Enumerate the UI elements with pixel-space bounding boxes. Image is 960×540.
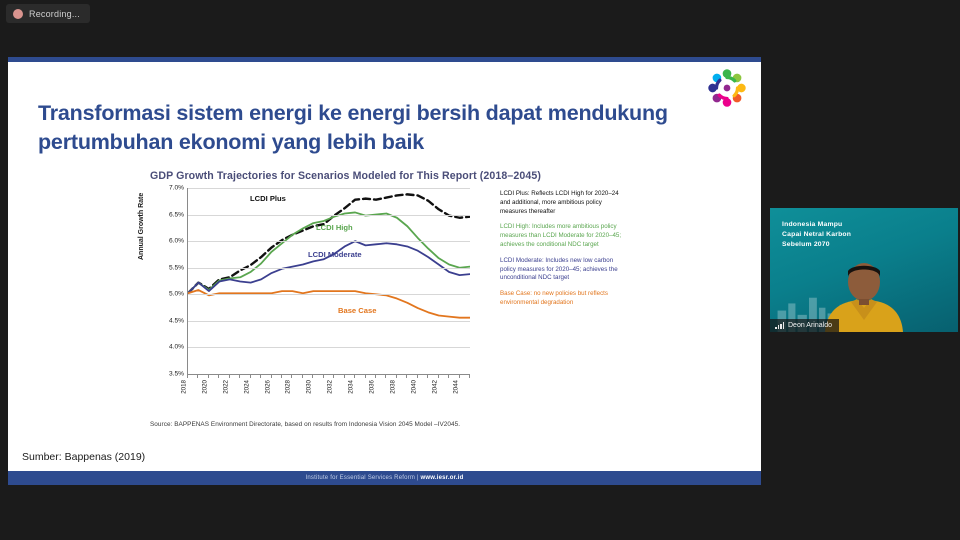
x-tick-mark [469,374,470,378]
plot-area: Annual Growth Rate 7.0%6.5%6.0%5.5%5.0%4… [140,188,630,418]
grid-line [188,188,470,189]
y-tick-label: 7.0% [169,185,184,192]
series-label-lcdi-high: LCDI High [316,223,353,232]
x-tick-mark [396,374,397,378]
x-tick-mark [323,374,324,378]
x-tick-label: 2030 [306,380,313,394]
record-dot-icon [13,9,23,19]
grid-line [188,347,470,348]
annotation-lcdi-plus: LCDI Plus: Reflects LCDI High for 2020–2… [500,190,628,216]
x-axis-ticks: 2018202020222024202620282030203220342036… [187,374,469,418]
x-tick-mark [427,374,428,378]
iesr-swirl-logo [699,64,755,112]
x-tick-mark [197,374,198,378]
x-tick-mark [417,374,418,378]
chart-figure: GDP Growth Trajectories for Scenarios Mo… [140,170,630,435]
y-axis-label: Annual Growth Rate [138,193,145,260]
y-tick-label: 6.5% [169,211,184,218]
x-tick-label: 2040 [410,380,417,394]
x-tick-mark [208,374,209,378]
x-tick-mark [406,374,407,378]
annotation-lcdi-high: LCDI High: Includes more ambitious polic… [500,223,628,249]
x-tick-label: 2036 [369,380,376,394]
x-tick-mark [448,374,449,378]
x-tick-label: 2018 [181,380,188,394]
series-label-lcdi-plus: LCDI Plus [250,194,286,203]
participant-name-bar: Deon Arinaldo [770,319,839,332]
grid-line [188,321,470,322]
x-tick-mark [260,374,261,378]
x-tick-mark [385,374,386,378]
x-tick-label: 2042 [431,380,438,394]
grid-line [188,215,470,216]
x-tick-label: 2044 [452,380,459,394]
x-tick-mark [291,374,292,378]
series-label-lcdi-moderate: LCDI Moderate [308,250,362,259]
x-tick-mark [333,374,334,378]
x-tick-label: 2038 [389,380,396,394]
x-tick-label: 2024 [243,380,250,394]
grid-line [188,268,470,269]
y-tick-label: 4.5% [169,317,184,324]
y-axis-ticks: 7.0%6.5%6.0%5.5%5.0%4.5%4.0%3.5% [152,188,186,374]
x-tick-mark [250,374,251,378]
x-tick-mark [229,374,230,378]
grid-line [188,294,470,295]
y-tick-label: 5.0% [169,291,184,298]
x-tick-label: 2034 [348,380,355,394]
footer-url: www.iesr.or.id [421,475,464,481]
slide-bottom-bar: Institute for Essential Services Reform … [8,471,761,485]
slide-footer-text: Institute for Essential Services Reform … [306,475,464,481]
slide-title: Transformasi sistem energi ke energi ber… [38,99,688,157]
x-tick-mark [187,374,188,378]
y-tick-label: 3.5% [169,371,184,378]
x-tick-label: 2026 [264,380,271,394]
x-tick-label: 2020 [201,380,208,394]
x-tick-mark [239,374,240,378]
signal-strength-icon [775,322,784,329]
video-tile-participant[interactable]: Indonesia Mampu Capai Netral Karbon Sebe… [770,208,958,332]
footer-org: Institute for Essential Services Reform … [306,475,421,481]
series-label-base-case: Base Case [338,306,376,315]
recording-label: Recording... [29,9,80,19]
annotation-base-case: Base Case: no new policies but reflects … [500,290,628,308]
x-tick-mark [375,374,376,378]
participant-name: Deon Arinaldo [788,322,832,329]
video-overlay-text: Indonesia Mampu Capai Netral Karbon Sebe… [782,220,851,251]
slide-top-bar [8,57,761,62]
series-lines [188,188,470,374]
x-tick-mark [354,374,355,378]
y-tick-label: 5.5% [169,264,184,271]
chart-title: GDP Growth Trajectories for Scenarios Mo… [150,170,630,182]
chart-annotations: LCDI Plus: Reflects LCDI High for 2020–2… [500,190,628,315]
x-tick-label: 2028 [285,380,292,394]
slide-source-note: Sumber: Bappenas (2019) [22,451,145,463]
annotation-lcdi-moderate: LCDI Moderate: Includes new low carbon p… [500,257,628,283]
y-tick-label: 4.0% [169,344,184,351]
presentation-slide: Transformasi sistem energi ke energi ber… [8,57,761,485]
x-tick-mark [271,374,272,378]
x-tick-mark [459,374,460,378]
grid-line [188,241,470,242]
x-tick-mark [365,374,366,378]
x-tick-mark [218,374,219,378]
recording-indicator[interactable]: Recording... [6,4,90,23]
plot-canvas: LCDI Plus LCDI High LCDI Moderate Base C… [187,188,470,375]
x-tick-mark [438,374,439,378]
chart-source-note: Source: BAPPENAS Environment Directorate… [150,421,460,428]
x-tick-label: 2032 [327,380,334,394]
x-tick-mark [281,374,282,378]
y-tick-label: 6.0% [169,238,184,245]
x-tick-mark [302,374,303,378]
x-tick-mark [344,374,345,378]
x-tick-label: 2022 [222,380,229,394]
meeting-screen: Recording... Transformasi sistem [0,0,960,540]
x-tick-mark [312,374,313,378]
